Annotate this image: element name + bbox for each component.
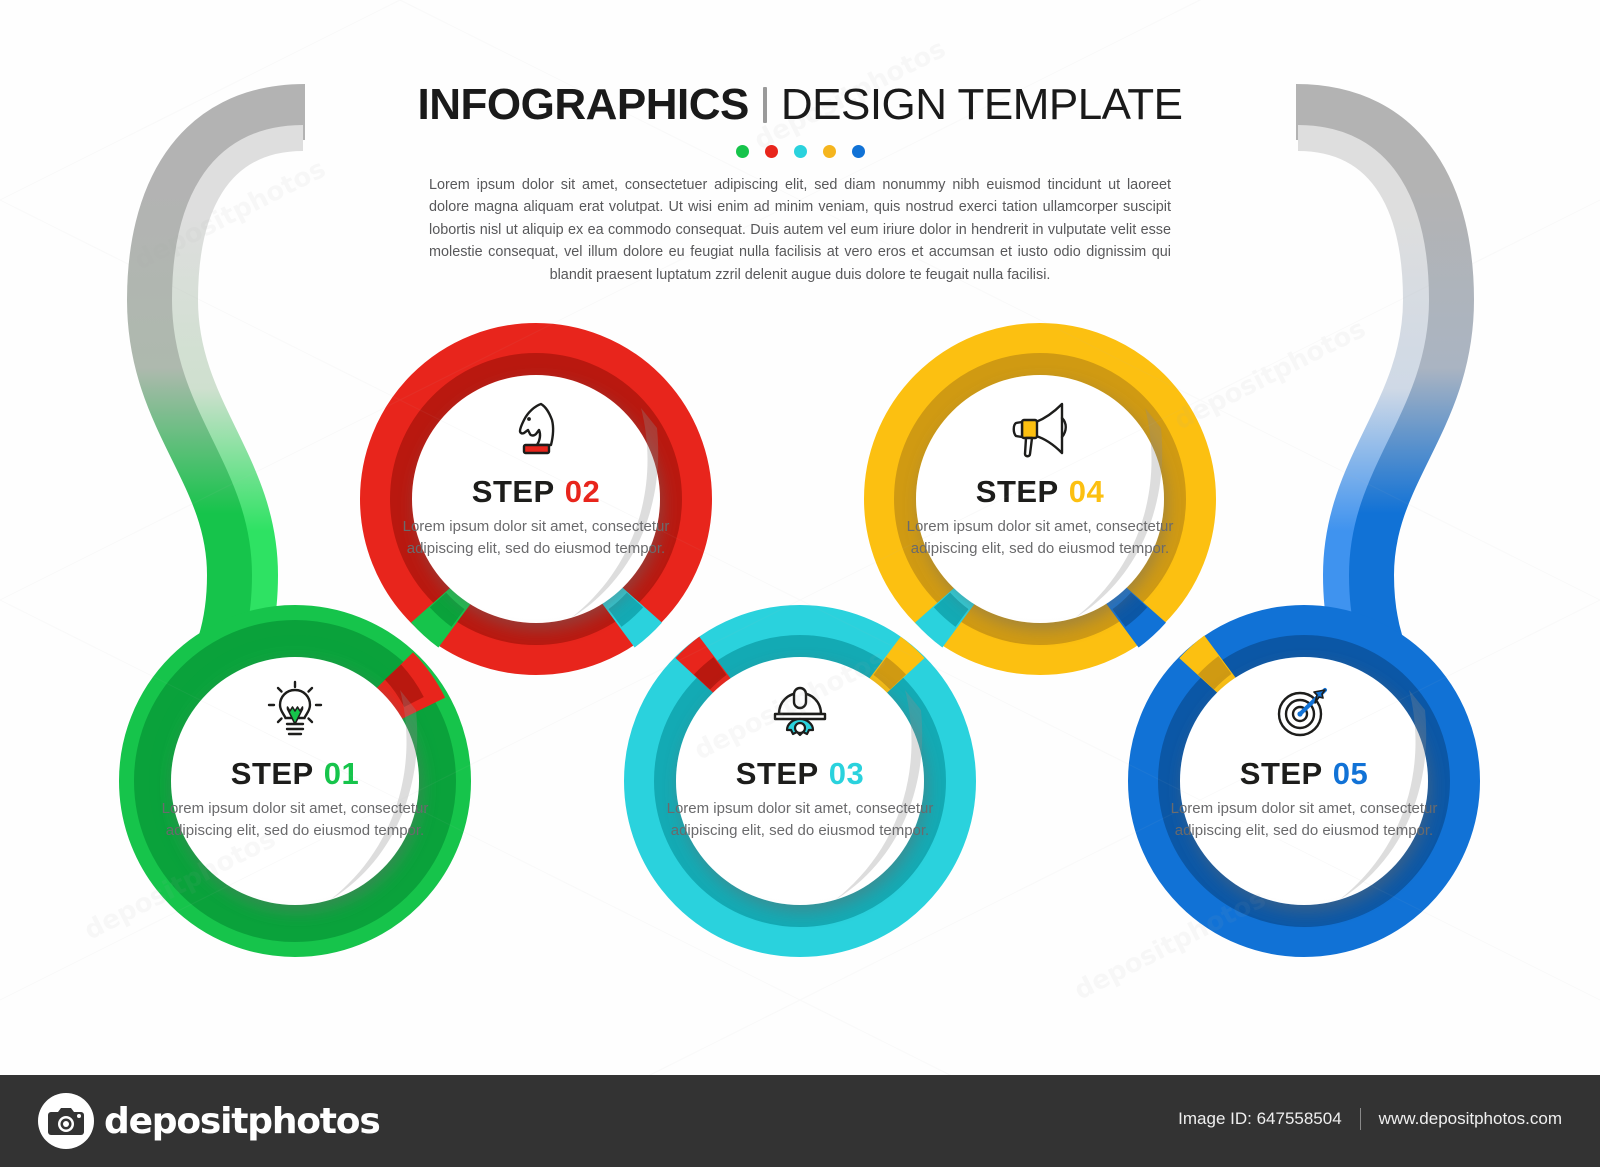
header-block: INFOGRAPHICSDESIGN TEMPLATE Lorem ipsum … [0, 78, 1600, 286]
step-number-04: 04 [1069, 474, 1104, 509]
step-label-05: STEP [1240, 756, 1323, 791]
target-arrow-icon [1154, 676, 1454, 742]
step-number-05: 05 [1333, 756, 1368, 791]
step-label-02: STEP [472, 474, 555, 509]
infographic-canvas: depositphotos depositphotos depositphoto… [0, 0, 1600, 1167]
title-light: DESIGN TEMPLATE [781, 80, 1183, 129]
title-strong: INFOGRAPHICS [418, 80, 749, 129]
dot-cyan [794, 145, 807, 158]
step-body-02: Lorem ipsum dolor sit amet, consectetur … [386, 516, 686, 560]
step-number-02: 02 [565, 474, 600, 509]
megaphone-icon [890, 394, 1190, 460]
dot-blue [852, 145, 865, 158]
website-label[interactable]: www.depositphotos.com [1379, 1109, 1562, 1129]
lightbulb-icon [145, 676, 445, 742]
hardhat-gear-icon [650, 676, 950, 742]
step-number-03: 03 [829, 756, 864, 791]
chess-knight-icon [386, 394, 686, 460]
step-body-04: Lorem ipsum dolor sit amet, consectetur … [890, 516, 1190, 560]
depositphotos-logo[interactable]: depositphotos [38, 1093, 380, 1149]
step-body-05: Lorem ipsum dolor sit amet, consectetur … [1154, 798, 1454, 842]
step-heading-03: STEP03 [650, 756, 950, 792]
step-body-03: Lorem ipsum dolor sit amet, consectetur … [650, 798, 950, 842]
image-id-label: Image ID: 647558504 [1178, 1109, 1342, 1129]
title-separator [763, 87, 767, 123]
step-body-01: Lorem ipsum dolor sit amet, consectetur … [145, 798, 445, 842]
step-label-03: STEP [736, 756, 819, 791]
page-title: INFOGRAPHICSDESIGN TEMPLATE [0, 78, 1600, 132]
brand-wordmark: depositphotos [104, 1101, 380, 1142]
step-label-04: STEP [976, 474, 1059, 509]
footer-bar: depositphotos Image ID: 647558504 www.de… [0, 1075, 1600, 1167]
footer-meta: Image ID: 647558504 www.depositphotos.co… [1178, 1108, 1562, 1130]
step-card-05[interactable]: STEP05 Lorem ipsum dolor sit amet, conse… [1154, 676, 1454, 857]
step-heading-04: STEP04 [890, 474, 1190, 510]
step-heading-01: STEP01 [145, 756, 445, 792]
step-card-02[interactable]: STEP02 Lorem ipsum dolor sit amet, conse… [386, 394, 686, 575]
dot-green [736, 145, 749, 158]
step-card-01[interactable]: STEP01 Lorem ipsum dolor sit amet, conse… [145, 676, 445, 857]
step-heading-05: STEP05 [1154, 756, 1454, 792]
step-card-03[interactable]: STEP03 Lorem ipsum dolor sit amet, conse… [650, 676, 950, 857]
step-label-01: STEP [231, 756, 314, 791]
footer-divider [1360, 1108, 1361, 1130]
camera-icon [38, 1093, 94, 1149]
step-card-04[interactable]: STEP04 Lorem ipsum dolor sit amet, conse… [890, 394, 1190, 575]
dot-yellow [823, 145, 836, 158]
step-heading-02: STEP02 [386, 474, 686, 510]
dot-red [765, 145, 778, 158]
step-number-01: 01 [324, 756, 359, 791]
accent-dots [0, 145, 1600, 158]
intro-paragraph: Lorem ipsum dolor sit amet, consectetuer… [429, 174, 1171, 286]
